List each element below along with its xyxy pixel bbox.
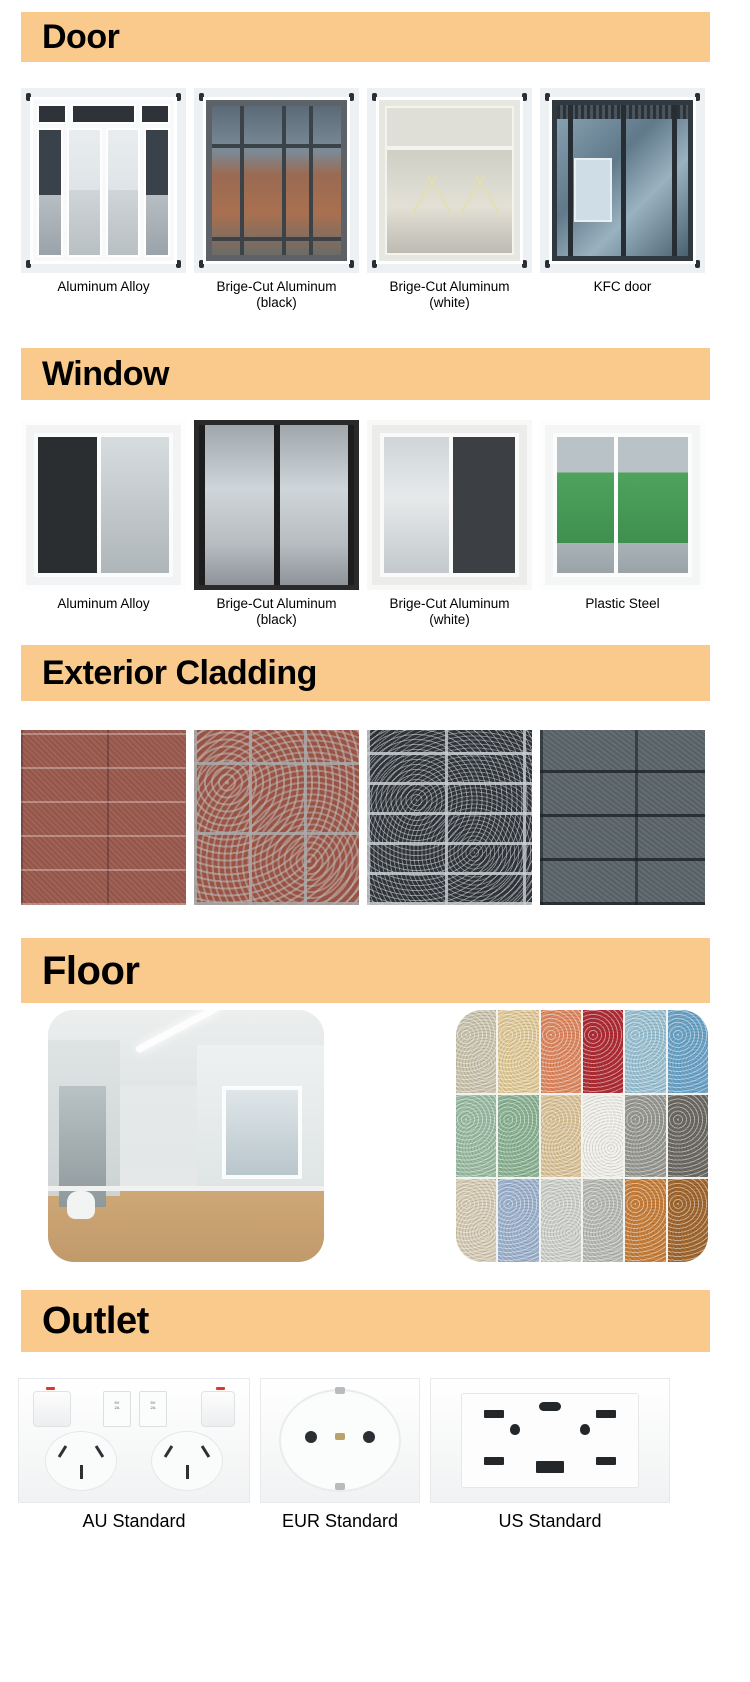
- product-cell-door-2[interactable]: Brige-Cut Aluminum (white): [367, 88, 532, 311]
- floor-pvc-colour-swatch-grid: [456, 1010, 708, 1262]
- floor-room-interior-photo: [48, 1010, 324, 1262]
- product-cell-window-3[interactable]: Plastic Steel: [540, 420, 705, 628]
- section-header-window: Window: [21, 348, 710, 400]
- floor-swatch-11: [668, 1095, 708, 1178]
- floor-swatch-4: [625, 1010, 665, 1093]
- window-brige-cut-white-photo: [367, 420, 532, 590]
- product-label: Aluminum Alloy: [57, 596, 149, 612]
- product-label: US Standard: [498, 1513, 601, 1529]
- cladding-red-stone-swatch: [194, 730, 359, 905]
- product-cell-door-0[interactable]: Aluminum Alloy: [21, 88, 186, 311]
- section-title-exterior-cladding: Exterior Cladding: [42, 656, 317, 690]
- outlet-us-standard-photo: [430, 1378, 670, 1503]
- floor-swatch-10: [625, 1095, 665, 1178]
- product-cell-cladding-3[interactable]: [540, 730, 705, 905]
- product-row-window: Aluminum Alloy Brige-Cut Aluminum (black…: [21, 420, 710, 628]
- product-label: Brige-Cut Aluminum (black): [216, 279, 336, 311]
- product-cell-outlet-0[interactable]: 5V2A 5V2A AU Standard: [18, 1378, 250, 1529]
- door-brige-cut-white-photo: [367, 88, 532, 273]
- product-row-outlet: 5V2A 5V2A AU Standard: [18, 1378, 732, 1529]
- section-title-door: Door: [42, 20, 119, 54]
- product-cell-floor-1[interactable]: [456, 1010, 708, 1262]
- section-title-outlet: Outlet: [42, 1302, 149, 1340]
- floor-swatch-14: [541, 1179, 581, 1262]
- cladding-dark-granite-swatch: [367, 730, 532, 905]
- product-cell-cladding-1[interactable]: [194, 730, 359, 905]
- product-cell-window-0[interactable]: Aluminum Alloy: [21, 420, 186, 628]
- window-aluminum-alloy-photo: [21, 420, 186, 590]
- product-cell-cladding-2[interactable]: [367, 730, 532, 905]
- door-brige-cut-black-photo: [194, 88, 359, 273]
- section-title-floor: Floor: [42, 951, 139, 991]
- product-row-exterior-cladding: [21, 730, 710, 905]
- floor-swatch-grid: [456, 1010, 708, 1262]
- door-aluminum-alloy-photo: [21, 88, 186, 273]
- floor-swatch-6: [456, 1095, 496, 1178]
- product-options-page: Door Aluminum Alloy: [0, 0, 750, 1682]
- product-label: Brige-Cut Aluminum (black): [216, 596, 336, 628]
- product-label: Aluminum Alloy: [57, 279, 149, 295]
- floor-swatch-16: [625, 1179, 665, 1262]
- floor-swatch-15: [583, 1179, 623, 1262]
- door-kfc-photo: [540, 88, 705, 273]
- floor-swatch-2: [541, 1010, 581, 1093]
- product-cell-outlet-1[interactable]: EUR Standard: [260, 1378, 420, 1529]
- floor-swatch-1: [498, 1010, 538, 1093]
- cladding-red-brick-swatch: [21, 730, 186, 905]
- window-brige-cut-black-photo: [194, 420, 359, 590]
- product-label: KFC door: [594, 279, 652, 295]
- floor-swatch-0: [456, 1010, 496, 1093]
- floor-swatch-12: [456, 1179, 496, 1262]
- cladding-grey-brick-swatch: [540, 730, 705, 905]
- product-cell-door-3[interactable]: KFC door: [540, 88, 705, 311]
- floor-swatch-3: [583, 1010, 623, 1093]
- product-label: AU Standard: [82, 1513, 185, 1529]
- product-row-door: Aluminum Alloy Brige-Cut Alum: [21, 88, 710, 311]
- product-cell-outlet-2[interactable]: US Standard: [430, 1378, 670, 1529]
- section-header-outlet: Outlet: [21, 1290, 710, 1352]
- window-plastic-steel-photo: [540, 420, 705, 590]
- floor-swatch-7: [498, 1095, 538, 1178]
- floor-swatch-13: [498, 1179, 538, 1262]
- product-label: Brige-Cut Aluminum (white): [389, 596, 509, 628]
- section-header-exterior-cladding: Exterior Cladding: [21, 645, 710, 701]
- product-cell-floor-0[interactable]: [48, 1010, 324, 1262]
- product-row-floor: [48, 1010, 708, 1262]
- product-label: Plastic Steel: [585, 596, 659, 612]
- product-cell-door-1[interactable]: Brige-Cut Aluminum (black): [194, 88, 359, 311]
- outlet-au-standard-photo: 5V2A 5V2A: [18, 1378, 250, 1503]
- floor-swatch-5: [668, 1010, 708, 1093]
- product-label: EUR Standard: [282, 1513, 398, 1529]
- product-cell-window-1[interactable]: Brige-Cut Aluminum (black): [194, 420, 359, 628]
- section-header-door: Door: [21, 12, 710, 62]
- product-cell-window-2[interactable]: Brige-Cut Aluminum (white): [367, 420, 532, 628]
- floor-swatch-9: [583, 1095, 623, 1178]
- outlet-eur-standard-photo: [260, 1378, 420, 1503]
- product-label: Brige-Cut Aluminum (white): [389, 279, 509, 311]
- section-header-floor: Floor: [21, 938, 710, 1003]
- floor-swatch-8: [541, 1095, 581, 1178]
- section-title-window: Window: [42, 357, 169, 391]
- product-cell-cladding-0[interactable]: [21, 730, 186, 905]
- floor-swatch-17: [668, 1179, 708, 1262]
